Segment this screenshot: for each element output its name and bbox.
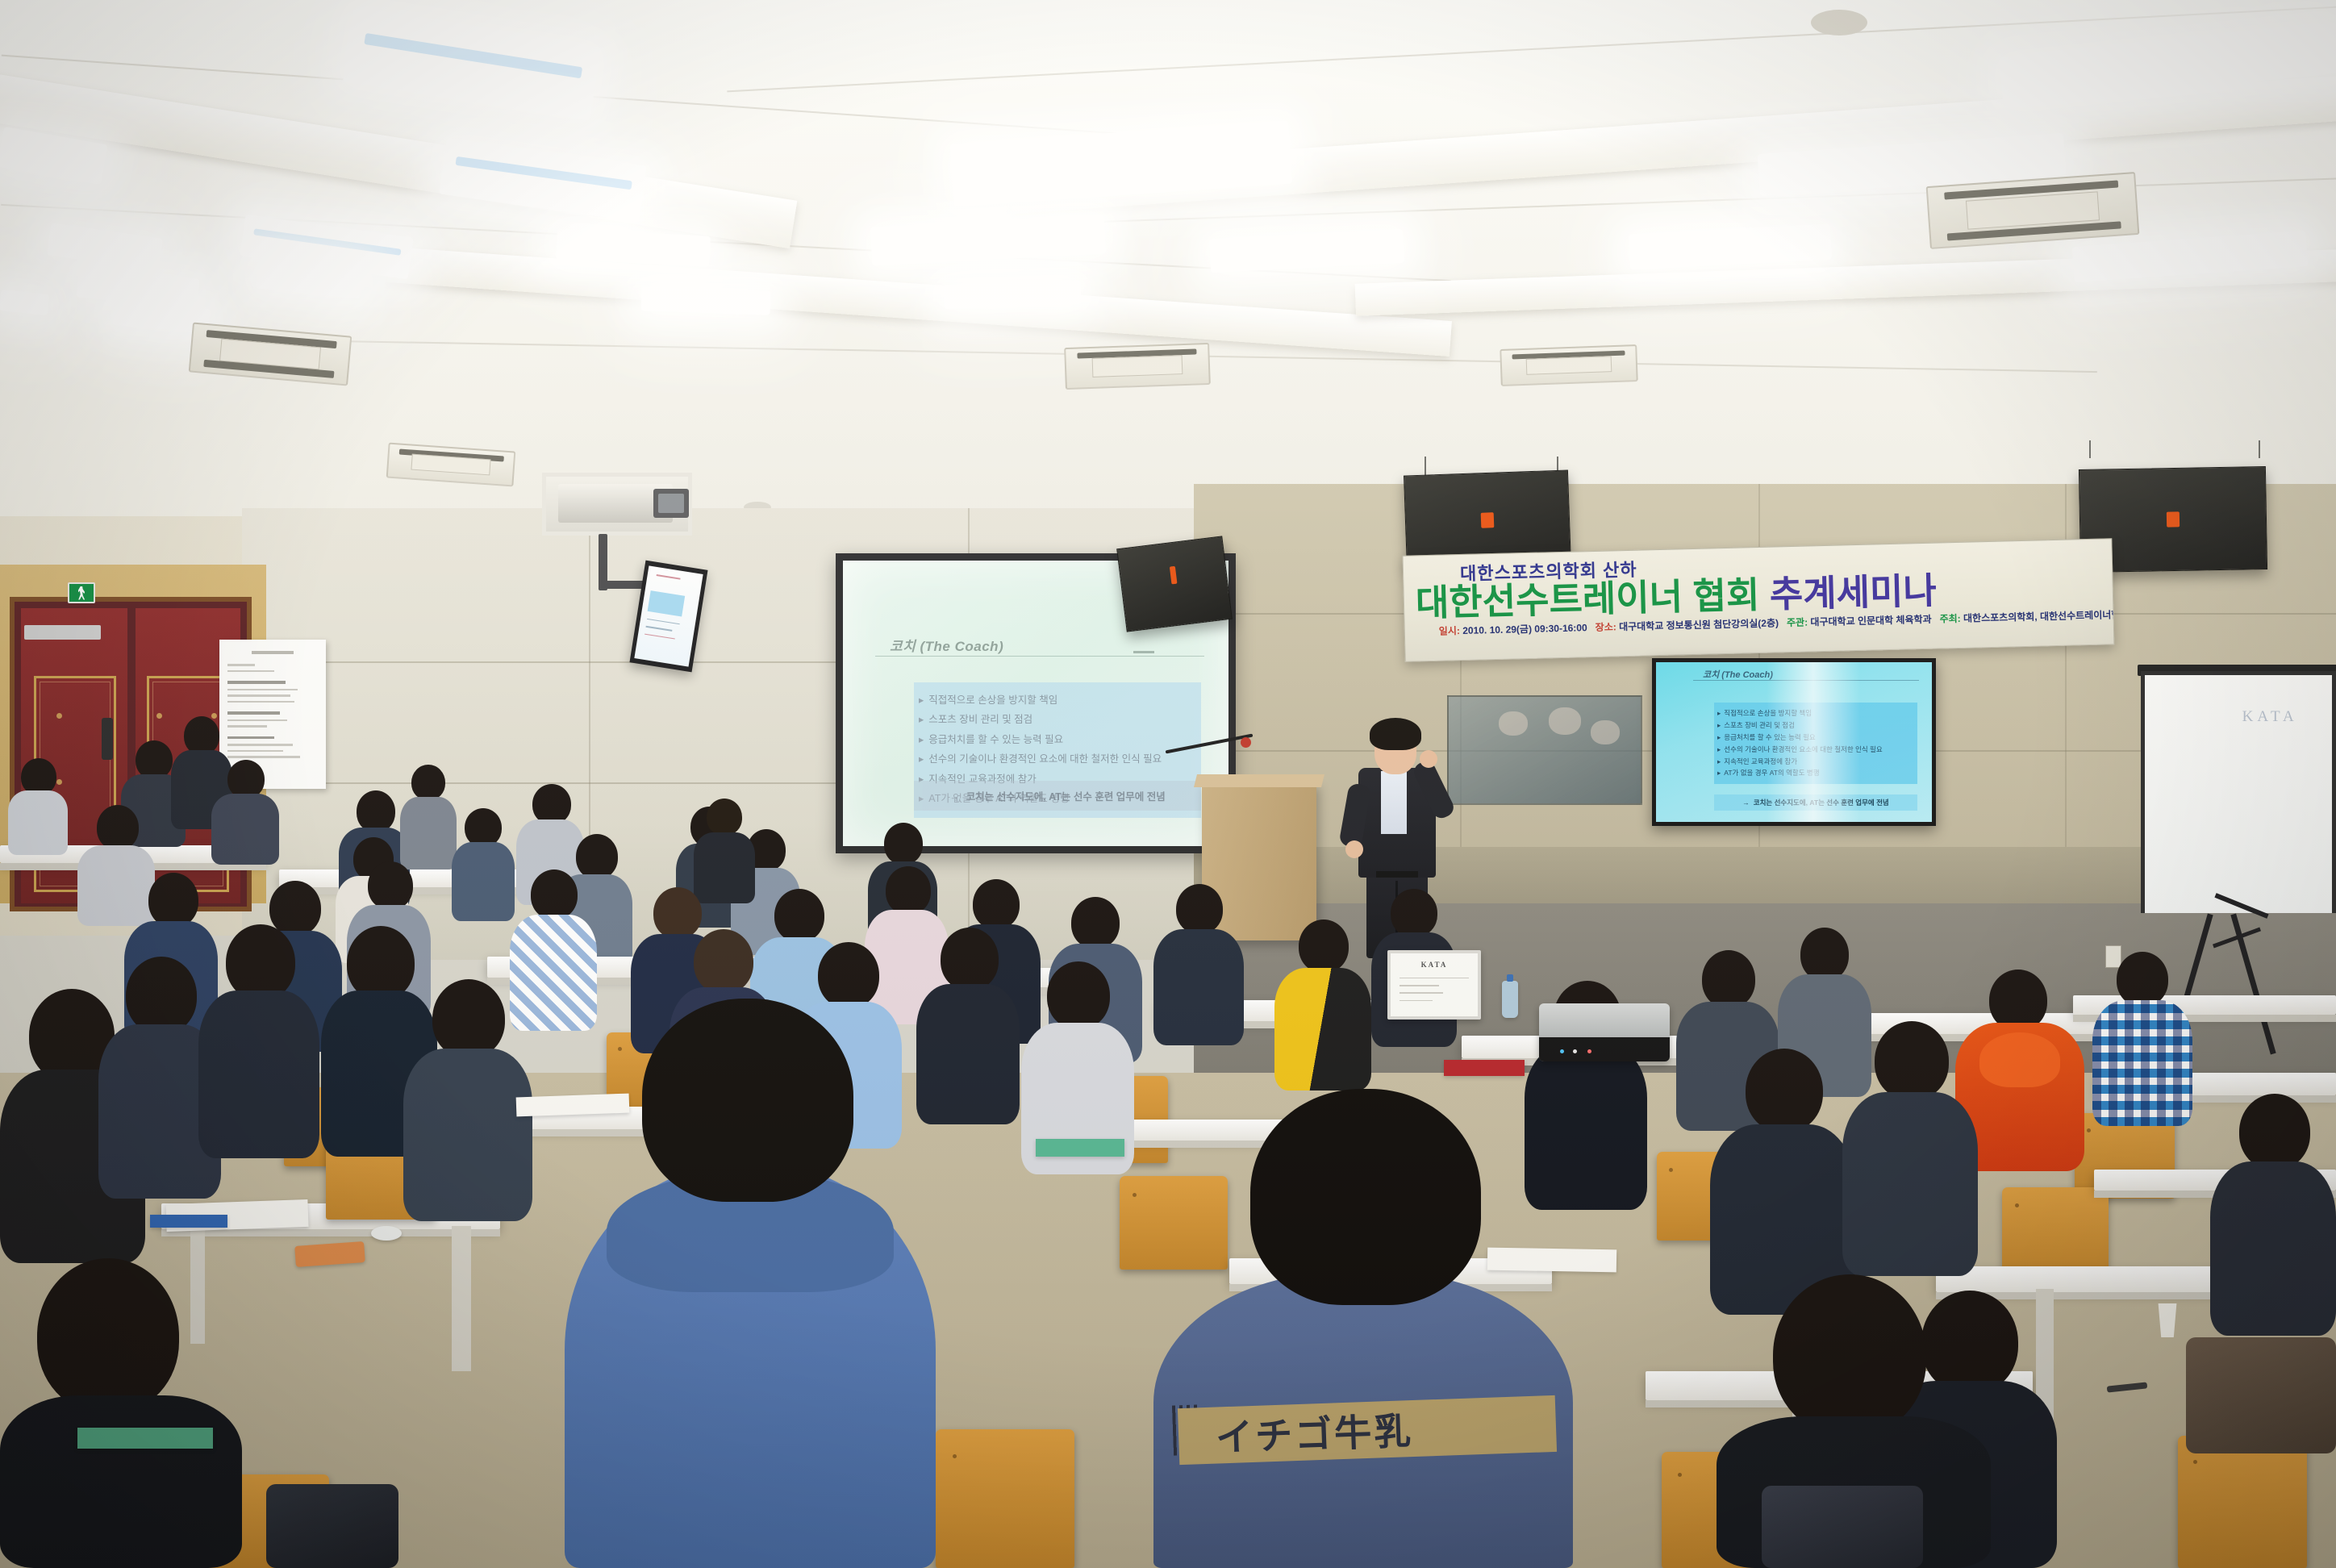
audience-member [198,924,319,1158]
slide-dash-mark [1133,651,1154,653]
audience-member [1153,884,1244,1045]
screen-watermark: KATA [2242,708,2298,726]
chair[interactable] [2002,1187,2109,1278]
chair[interactable] [2178,1436,2307,1568]
secondary-slide: 코치 (The Coach) 직접적으로 손상을 방지할 책임 스포츠 장비 관… [1656,662,1932,822]
folder[interactable] [77,1428,213,1449]
laptop-document-title: KATA [1421,961,1448,969]
audience-member [452,808,515,921]
slide-bullet: 스포츠 장비 관리 및 점검 [919,710,1196,729]
foreground-student-hoodie [565,999,936,1568]
laptop[interactable]: KATA [1387,950,1481,1020]
audience-member [400,765,457,869]
round-container[interactable] [371,1226,402,1241]
slide-bullet: 직접적으로 손상을 방지할 책임 [919,690,1196,710]
backpack[interactable] [2186,1337,2336,1453]
banner-main-green: 대한선수트레이너 협회 [1415,574,1760,623]
ceiling-light [1209,229,1404,273]
banner-host-label: 주관: [1787,616,1808,628]
banner-organizer-value: 대한스포츠의학회, 대한선수트레이너협회 [1963,609,2115,624]
notebook[interactable] [1444,1060,1525,1076]
water-bottle[interactable] [1502,981,1518,1018]
projector-lens-icon [653,489,689,518]
foreground-student-left [0,1258,242,1568]
exit-icon [68,582,95,603]
banner-organizer-label: 주최: [1939,613,1960,625]
stage-window [1447,695,1642,805]
smoke-detector-icon [1811,10,1867,35]
ceiling-light [47,223,163,270]
folder[interactable] [1036,1139,1124,1157]
ceiling-light [0,290,49,315]
ceiling-light [343,8,602,120]
door-handle[interactable] [102,718,113,760]
notebook[interactable] [150,1215,227,1228]
ceiling-light [870,215,1106,265]
microphone-head-icon [1241,737,1251,748]
audience-member [2092,952,2192,1126]
speaker-logo-icon [2167,511,2180,527]
bag[interactable] [266,1484,398,1568]
slide-bullet: 응급처치를 할 수 있는 능력 필요 [919,730,1196,749]
bag[interactable] [1762,1486,1923,1568]
ceiling-light [1629,223,1832,269]
audience-member [1842,1021,1978,1276]
door-push-bar[interactable] [24,625,101,640]
ceiling-ac-unit [1064,343,1211,390]
secondary-display: 코치 (The Coach) 직접적으로 손상을 방지할 책임 스포츠 장비 관… [1652,658,1936,826]
portable-projector[interactable] [1539,1003,1670,1061]
audience-member [403,979,532,1221]
audience-member [1274,920,1371,1091]
slide-bullet: 선수의 기술이나 환경적인 요소에 대한 철저한 인식 필요 [919,749,1196,769]
paper-sheet[interactable] [516,1094,630,1117]
chair[interactable] [936,1429,1074,1568]
laptop-screen: KATA [1391,953,1478,1016]
slide-conclusion: 코치는 선수지도에, AT는 선수 훈련 업무에 전념 [914,781,1201,811]
foreground-student-sweatshirt: イチゴ牛乳 [1153,1089,1573,1568]
seminar-banner: 대한스포츠의학회 산하 대한선수트레이너 협회 추계세미나 일시: 2010. … [1403,538,2115,661]
slide-title: 코치 (The Coach) [1703,668,1773,681]
audience-member [8,758,68,855]
ceiling-ac-unit [189,322,352,386]
banner-main-purple: 추계세미나 [1769,570,1937,615]
ceiling-light [944,280,1082,309]
audience-member [211,760,279,865]
ceiling [0,0,2336,565]
slide-title: 코치 (The Coach) [890,635,1003,655]
speaker-logo-icon [1481,512,1495,528]
tripod-projection-screen: KATA [2141,671,2336,913]
banner-host-value: 대구대학교 인문대학 체육학과 [1810,614,1932,628]
ceiling-light [641,286,771,315]
paper-sheet[interactable] [1487,1248,1616,1273]
ceiling-ac-unit [1926,172,2140,249]
ceiling-ac-unit [386,443,516,487]
ceiling-ac-unit [1500,344,1638,386]
audience-member [2210,1094,2336,1336]
hanging-speaker [1116,536,1233,632]
screen-glare [1767,662,1860,822]
banner-place-label: 장소: [1596,621,1616,633]
slide-divider [875,656,1204,657]
banner-date-value: 2010. 10. 29(금) 09:30-16:00 [1462,622,1587,636]
banner-date-label: 일시: [1439,625,1460,637]
desk-leg [452,1226,471,1371]
banner-place-value: 대구대학교 정보통신원 첨단강의실(2층) [1619,617,1779,632]
lecture-hall-photo: 스포츠 의학 코치 (The Coach) 직접적으로 손상을 방지할 책임 스… [0,0,2336,1568]
